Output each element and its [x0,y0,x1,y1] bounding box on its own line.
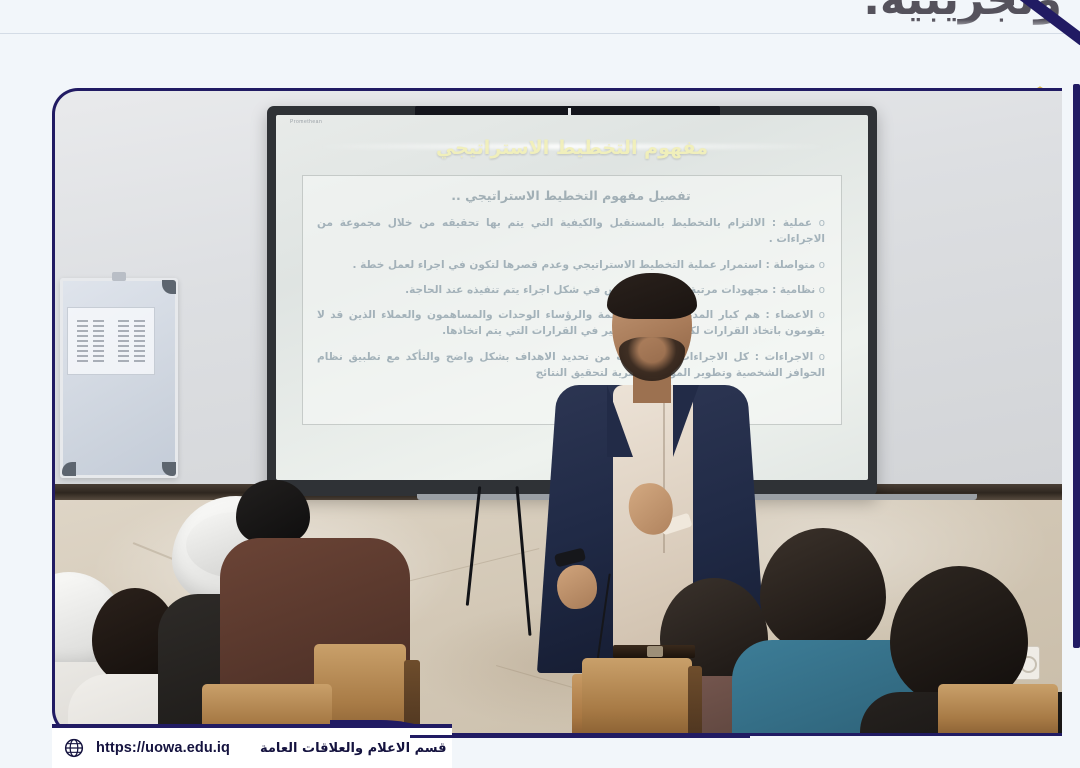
lecture-photograph: Promethean مفهوم التخطيط الاستراتيجي تفص… [52,88,1062,736]
chair-arm [688,666,702,736]
screenshot-root: وتجريبية. جامعة وارث الأنبياء UNIVERSITY… [0,0,1080,768]
globe-icon [64,738,84,758]
whiteboard-corner [162,462,176,476]
chair [582,658,692,736]
wall-whiteboard [60,278,178,478]
whiteboard-clip-icon [112,272,126,281]
presenter-holding-hand [557,565,597,609]
slide-subtitle: تفصيل مفهوم التخطيط الاستراتيجي .. [317,188,825,203]
whiteboard-posted-sheet [67,307,155,375]
lecture-photo-card: Promethean مفهوم التخطيط الاستراتيجي تفص… [52,88,1062,736]
slide-title: مفهوم التخطيط الاستراتيجي [302,137,842,159]
whiteboard-corner [62,462,76,476]
navy-right-edge-bar [1073,84,1080,648]
whiteboard-corner [162,280,176,294]
chair [938,684,1058,736]
slide-bullet: عملية : الالتزام بالتخطيط بالمستقبل والك… [317,215,825,248]
footer-banner: https://uowa.edu.iq قسم الاعلام والعلاقا… [52,724,452,768]
footer-rule-line [410,735,750,738]
audience-head [760,528,886,654]
presenter-beard [619,337,685,381]
audience-head [236,480,310,542]
photo-clip: Promethean مفهوم التخطيط الاستراتيجي تفص… [52,88,1062,736]
slide-bullet: متواصلة : استمرار عملية التخطيط الاسترات… [317,257,825,273]
top-divider-line [0,33,1080,34]
presenter-collar [607,385,633,457]
presenter-hair [607,273,697,319]
footer-website-url[interactable]: https://uowa.edu.iq [96,740,230,756]
presenter-belt [613,645,695,658]
presenter-collar [673,385,699,457]
footer-department-label: قسم الاعلام والعلاقات العامة [260,741,447,756]
